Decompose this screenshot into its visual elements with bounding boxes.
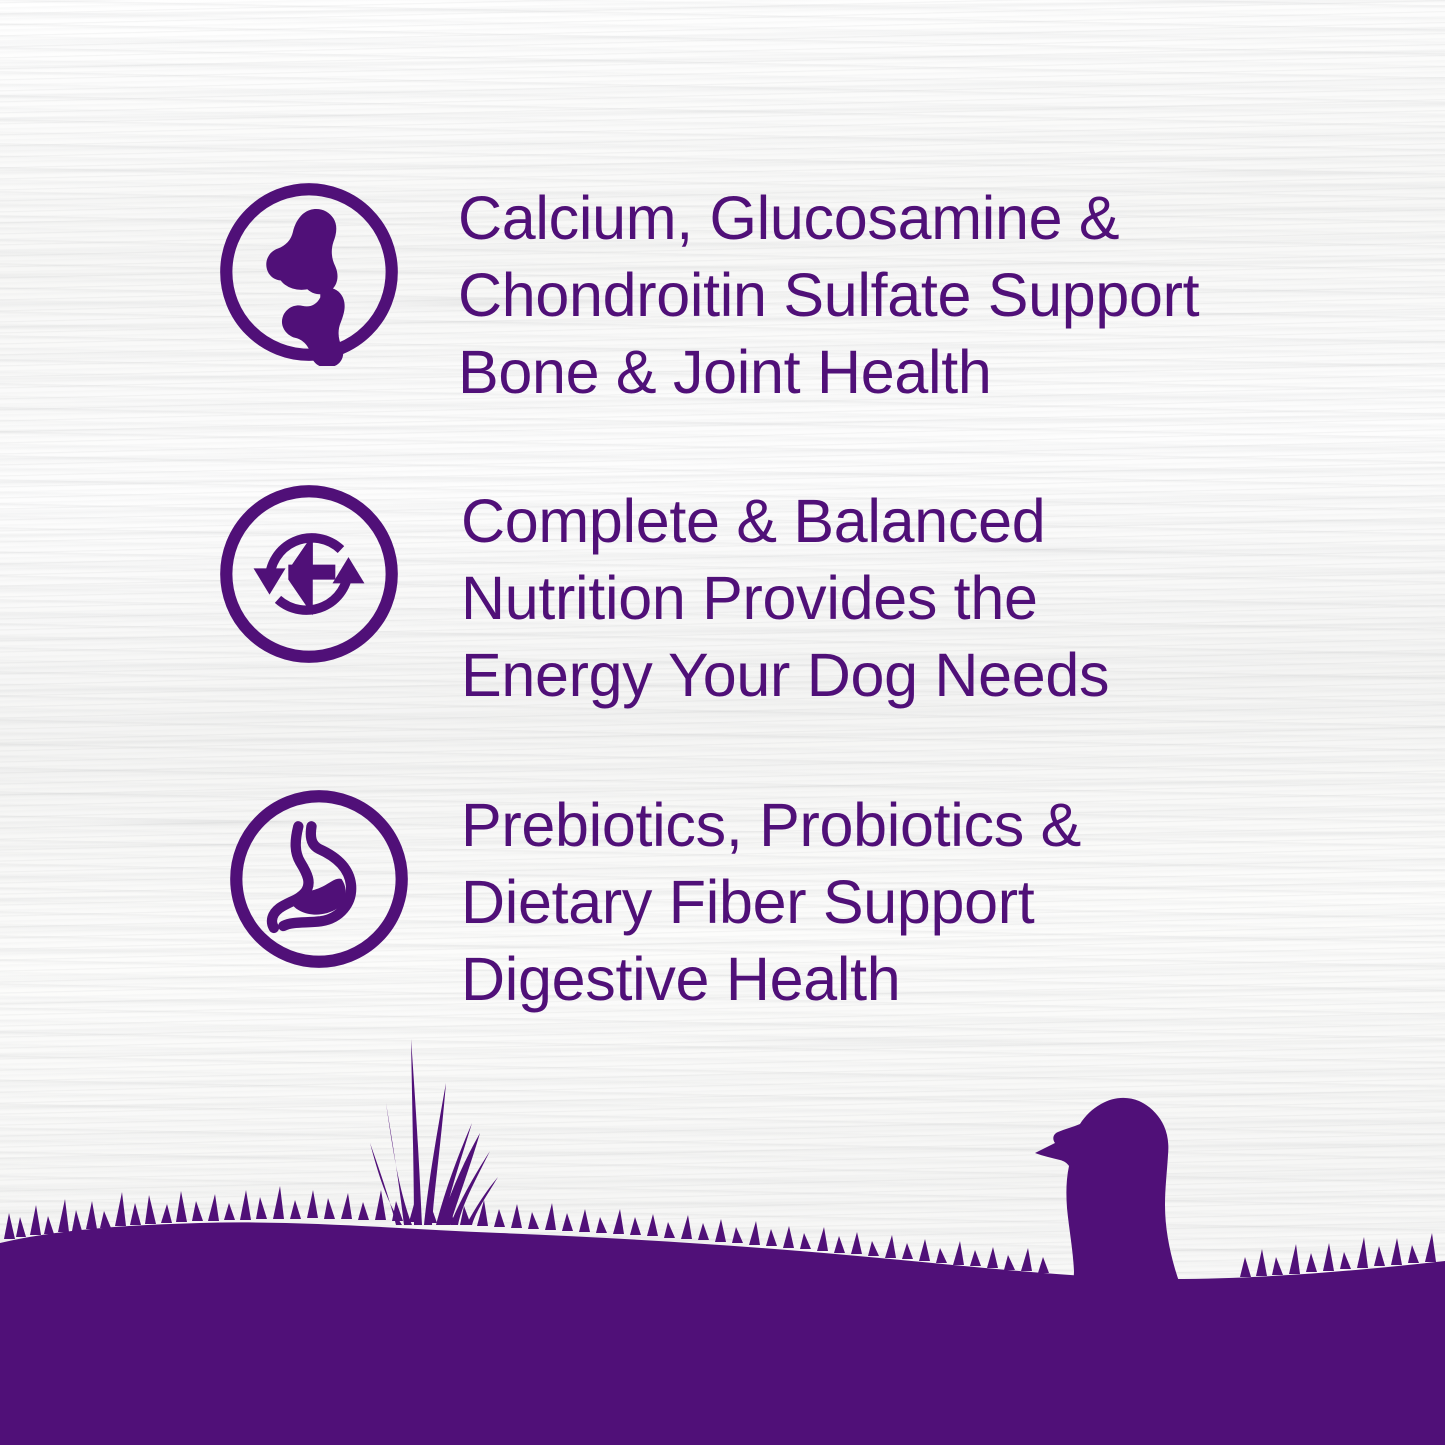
benefit-text-energy: Complete & Balanced Nutrition Provides t… [461, 480, 1109, 714]
energy-cycle-icon [215, 480, 403, 668]
bone-joint-icon [215, 178, 403, 366]
benefit-item-bone-joint: Calcium, Glucosamine & Chondroitin Sulfa… [215, 178, 1199, 411]
tall-grass-tuft [370, 1039, 498, 1225]
infographic-canvas: Calcium, Glucosamine & Chondroitin Sulfa… [0, 0, 1445, 1445]
benefit-text-bone-joint: Calcium, Glucosamine & Chondroitin Sulfa… [458, 178, 1199, 411]
stomach-digestive-icon [225, 785, 413, 973]
benefit-item-energy: Complete & Balanced Nutrition Provides t… [215, 480, 1109, 714]
benefit-text-digestive: Prebiotics, Probiotics & Dietary Fiber S… [461, 785, 1081, 1018]
benefit-item-digestive: Prebiotics, Probiotics & Dietary Fiber S… [225, 785, 1081, 1018]
scenery-silhouette [0, 1025, 1445, 1445]
